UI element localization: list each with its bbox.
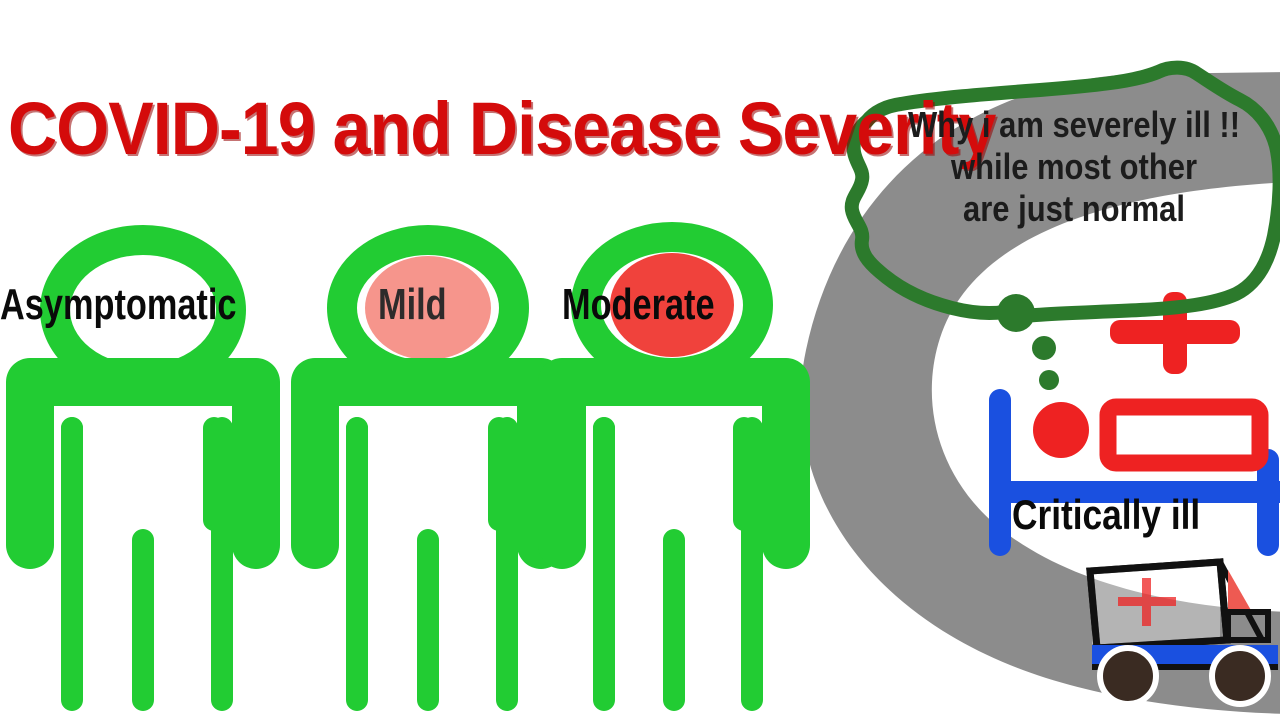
figure-label-asymptomatic: Asymptomatic	[0, 283, 236, 327]
thought-line-2: while most other	[895, 146, 1253, 188]
poster-canvas: COVID-19 and Disease Severity Asymptomat…	[0, 0, 1280, 720]
thought-bubble-text: Why i am severely ill !! while most othe…	[895, 104, 1253, 230]
critically-ill-label: Critically ill	[1012, 494, 1200, 536]
thought-dot-large	[997, 294, 1035, 332]
thought-dot-small	[1039, 370, 1059, 390]
figure-label-moderate: Moderate	[562, 283, 715, 327]
page-title: COVID-19 and Disease Severity	[8, 92, 995, 166]
thought-line-1: Why i am severely ill !!	[895, 104, 1253, 146]
figure-label-mild: Mild	[378, 283, 447, 327]
thought-dot-medium	[1032, 336, 1056, 360]
thought-line-3: are just normal	[895, 188, 1253, 230]
